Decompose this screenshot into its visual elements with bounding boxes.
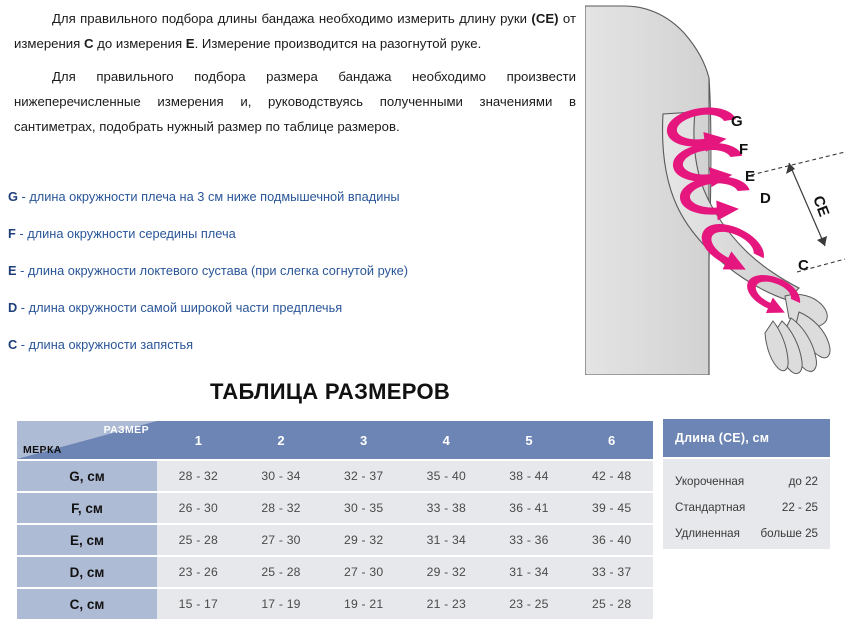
cell-g-5: 38 - 44	[488, 461, 571, 491]
arm-measurement-illustration: G F E D C CE	[585, 0, 845, 375]
illustration-label-d: D	[760, 190, 771, 207]
cell-d-3: 27 - 30	[322, 557, 405, 587]
cell-d-4: 29 - 32	[405, 557, 488, 587]
definition-item-c: C - длина окружности запястья	[8, 326, 568, 363]
cell-f-6: 39 - 45	[570, 493, 653, 523]
page-title: ТАБЛИЦА РАЗМЕРОВ	[0, 379, 660, 405]
length-row-standard: Стандартная 22 - 25	[675, 495, 818, 521]
size-table: РАЗМЕР МЕРКА 1 2 3 4 5 6 G, см 28 - 32 3…	[17, 419, 653, 621]
intro-text-block: Для правильного подбора длины бандажа не…	[14, 6, 576, 147]
definition-key-c: C	[8, 337, 17, 352]
definition-text-c: - длина окружности запястья	[17, 337, 193, 352]
corner-label-measure: МЕРКА	[23, 444, 62, 456]
corner-label-size: РАЗМЕР	[104, 424, 149, 436]
cell-c-6: 25 - 28	[570, 589, 653, 619]
illustration-label-f: F	[739, 141, 748, 158]
intro-paragraph-1: Для правильного подбора длины бандажа не…	[14, 6, 576, 56]
table-row: C, см 15 - 17 17 - 19 19 - 21 21 - 23 23…	[17, 589, 653, 619]
definition-text-g: - длина окружности плеча на 3 см ниже по…	[18, 189, 400, 204]
length-value-short: до 22	[789, 469, 818, 495]
cell-c-1: 15 - 17	[157, 589, 240, 619]
definition-text-e: - длина окружности локтевого сустава (пр…	[17, 263, 409, 278]
cell-f-5: 36 - 41	[488, 493, 571, 523]
intro-p1-segment-1: Для правильного подбора длины бандажа не…	[52, 11, 531, 26]
cell-e-1: 25 - 28	[157, 525, 240, 555]
definition-key-g: G	[8, 189, 18, 204]
cell-e-5: 33 - 36	[488, 525, 571, 555]
intro-paragraph-2: Для правильного подбора размера бандажа …	[14, 64, 576, 139]
length-panel-header: Длина (CE), см	[663, 419, 830, 457]
table-header-row: РАЗМЕР МЕРКА 1 2 3 4 5 6	[17, 421, 653, 459]
intro-p1-segment-3: до измерения	[93, 36, 185, 51]
size-column-header-5: 5	[488, 421, 571, 459]
size-column-header-6: 6	[570, 421, 653, 459]
cell-e-6: 36 - 40	[570, 525, 653, 555]
length-panel-body: Укороченная до 22 Стандартная 22 - 25 Уд…	[663, 459, 830, 549]
cell-f-4: 33 - 38	[405, 493, 488, 523]
length-name-long: Удлиненная	[675, 521, 740, 547]
row-label-d: D, см	[17, 557, 157, 587]
definition-item-e: E - длина окружности локтевого сустава (…	[8, 252, 568, 289]
cell-e-2: 27 - 30	[240, 525, 323, 555]
table-row: F, см 26 - 30 28 - 32 30 - 35 33 - 38 36…	[17, 493, 653, 523]
definition-text-f: - длина окружности середины плеча	[16, 226, 236, 241]
definition-item-f: F - длина окружности середины плеча	[8, 215, 568, 252]
ce-dimension-indicator: CE	[751, 152, 845, 272]
illustration-label-g: G	[731, 113, 743, 130]
cell-f-3: 30 - 35	[322, 493, 405, 523]
table-corner-cell: РАЗМЕР МЕРКА	[17, 421, 157, 459]
cell-d-6: 33 - 37	[570, 557, 653, 587]
size-column-header-4: 4	[405, 421, 488, 459]
cell-e-3: 29 - 32	[322, 525, 405, 555]
cell-f-1: 26 - 30	[157, 493, 240, 523]
cell-g-4: 35 - 40	[405, 461, 488, 491]
size-column-header-3: 3	[322, 421, 405, 459]
length-name-short: Укороченная	[675, 469, 744, 495]
cell-d-2: 25 - 28	[240, 557, 323, 587]
length-row-long: Удлиненная больше 25	[675, 521, 818, 547]
cell-d-5: 31 - 34	[488, 557, 571, 587]
cell-g-1: 28 - 32	[157, 461, 240, 491]
cell-c-3: 19 - 21	[322, 589, 405, 619]
size-column-header-1: 1	[157, 421, 240, 459]
cell-c-4: 21 - 23	[405, 589, 488, 619]
intro-p1-segment-4: . Измерение производится на разогнутой р…	[195, 36, 482, 51]
definition-key-e: E	[8, 263, 17, 278]
intro-p1-bold-ce: (CE)	[531, 11, 558, 26]
length-value-long: больше 25	[760, 521, 818, 547]
length-name-standard: Стандартная	[675, 495, 745, 521]
row-label-g: G, см	[17, 461, 157, 491]
cell-g-6: 42 - 48	[570, 461, 653, 491]
cell-g-2: 30 - 34	[240, 461, 323, 491]
measurement-definitions-list: G - длина окружности плеча на 3 см ниже …	[8, 178, 568, 363]
definition-key-d: D	[8, 300, 17, 315]
illustration-label-e: E	[745, 168, 755, 185]
definition-text-d: - длина окружности самой широкой части п…	[17, 300, 342, 315]
length-value-standard: 22 - 25	[782, 495, 818, 521]
cell-g-3: 32 - 37	[322, 461, 405, 491]
table-row: D, см 23 - 26 25 - 28 27 - 30 29 - 32 31…	[17, 557, 653, 587]
cell-e-4: 31 - 34	[405, 525, 488, 555]
row-label-e: E, см	[17, 525, 157, 555]
cell-f-2: 28 - 32	[240, 493, 323, 523]
definition-key-f: F	[8, 226, 16, 241]
cell-d-1: 23 - 26	[157, 557, 240, 587]
table-row: E, см 25 - 28 27 - 30 29 - 32 31 - 34 33…	[17, 525, 653, 555]
intro-p1-bold-e: E	[186, 36, 195, 51]
definition-item-g: G - длина окружности плеча на 3 см ниже …	[8, 178, 568, 215]
cell-c-5: 23 - 25	[488, 589, 571, 619]
size-column-header-2: 2	[240, 421, 323, 459]
table-row: G, см 28 - 32 30 - 34 32 - 37 35 - 40 38…	[17, 461, 653, 491]
row-label-c: C, см	[17, 589, 157, 619]
row-label-f: F, см	[17, 493, 157, 523]
length-panel: Длина (CE), см Укороченная до 22 Стандар…	[663, 419, 830, 549]
length-row-short: Укороченная до 22	[675, 469, 818, 495]
definition-item-d: D - длина окружности самой широкой части…	[8, 289, 568, 326]
cell-c-2: 17 - 19	[240, 589, 323, 619]
illustration-label-ce: CE	[809, 194, 832, 219]
